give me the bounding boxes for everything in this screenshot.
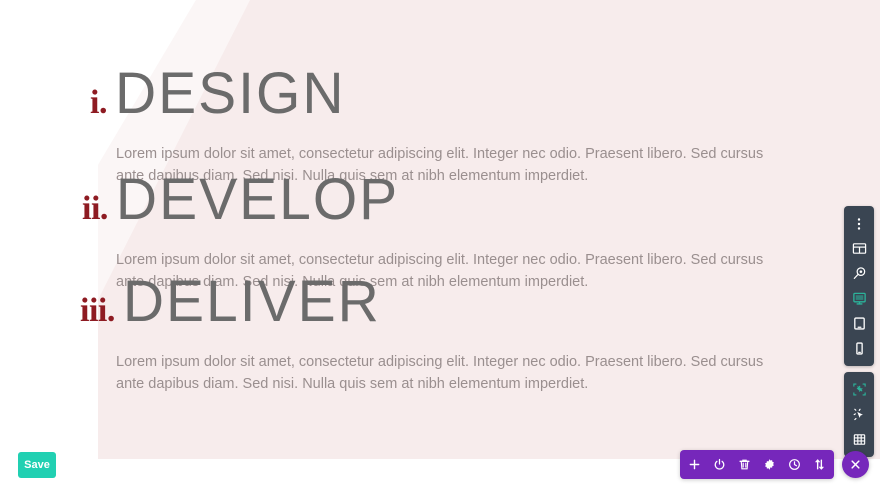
heading-row: ii. DEVELOP (80, 172, 820, 229)
plus-icon[interactable] (682, 450, 707, 479)
bottom-builder-toolbar (680, 450, 834, 479)
section-heading: DELIVER (123, 273, 381, 331)
edit-tools-group (844, 372, 874, 457)
section-body-text: Lorem ipsum dolor sit amet, consectetur … (116, 351, 788, 395)
tablet-icon[interactable] (844, 311, 874, 336)
trash-icon[interactable] (732, 450, 757, 479)
section-heading: DEVELOP (116, 171, 399, 229)
gear-icon[interactable] (757, 450, 782, 479)
section-numeral: iii. (80, 294, 115, 328)
content-area: i. DESIGN Lorem ipsum dolor sit amet, co… (0, 0, 880, 493)
magic-wand-select-icon[interactable] (844, 377, 874, 402)
power-toggle-icon[interactable] (707, 450, 732, 479)
heading-row: i. DESIGN (80, 66, 820, 123)
save-button[interactable]: Save (18, 452, 56, 478)
grid-icon[interactable] (844, 427, 874, 452)
click-cursor-icon[interactable] (844, 402, 874, 427)
close-x-icon[interactable] (842, 451, 869, 478)
section-numeral: ii. (80, 192, 108, 226)
view-tools-group (844, 206, 874, 366)
wireframe-layout-icon[interactable] (844, 236, 874, 261)
section-numeral: i. (80, 86, 107, 120)
right-vertical-toolbar (844, 206, 874, 457)
section-deliver[interactable]: iii. DELIVER Lorem ipsum dolor sit amet,… (80, 274, 820, 410)
zoom-search-icon[interactable] (844, 261, 874, 286)
phone-icon[interactable] (844, 336, 874, 361)
section-heading: DESIGN (115, 65, 346, 123)
heading-row: iii. DELIVER (80, 274, 820, 331)
sort-bars-icon[interactable] (807, 450, 832, 479)
history-clock-icon[interactable] (782, 450, 807, 479)
desktop-icon[interactable] (844, 286, 874, 311)
kebab-menu-icon[interactable] (844, 211, 874, 236)
